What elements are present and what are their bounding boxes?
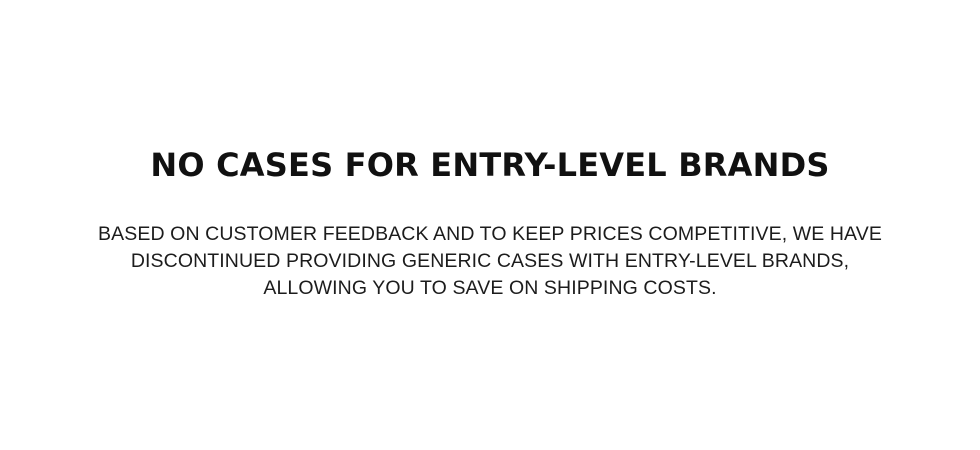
notice-banner: NO CASES FOR ENTRY-LEVEL BRANDS BASED ON… (0, 0, 980, 450)
banner-description: BASED ON CUSTOMER FEEDBACK AND TO KEEP P… (90, 184, 890, 302)
page-title: NO CASES FOR ENTRY-LEVEL BRANDS (0, 148, 980, 184)
banner-content: NO CASES FOR ENTRY-LEVEL BRANDS BASED ON… (0, 0, 980, 302)
